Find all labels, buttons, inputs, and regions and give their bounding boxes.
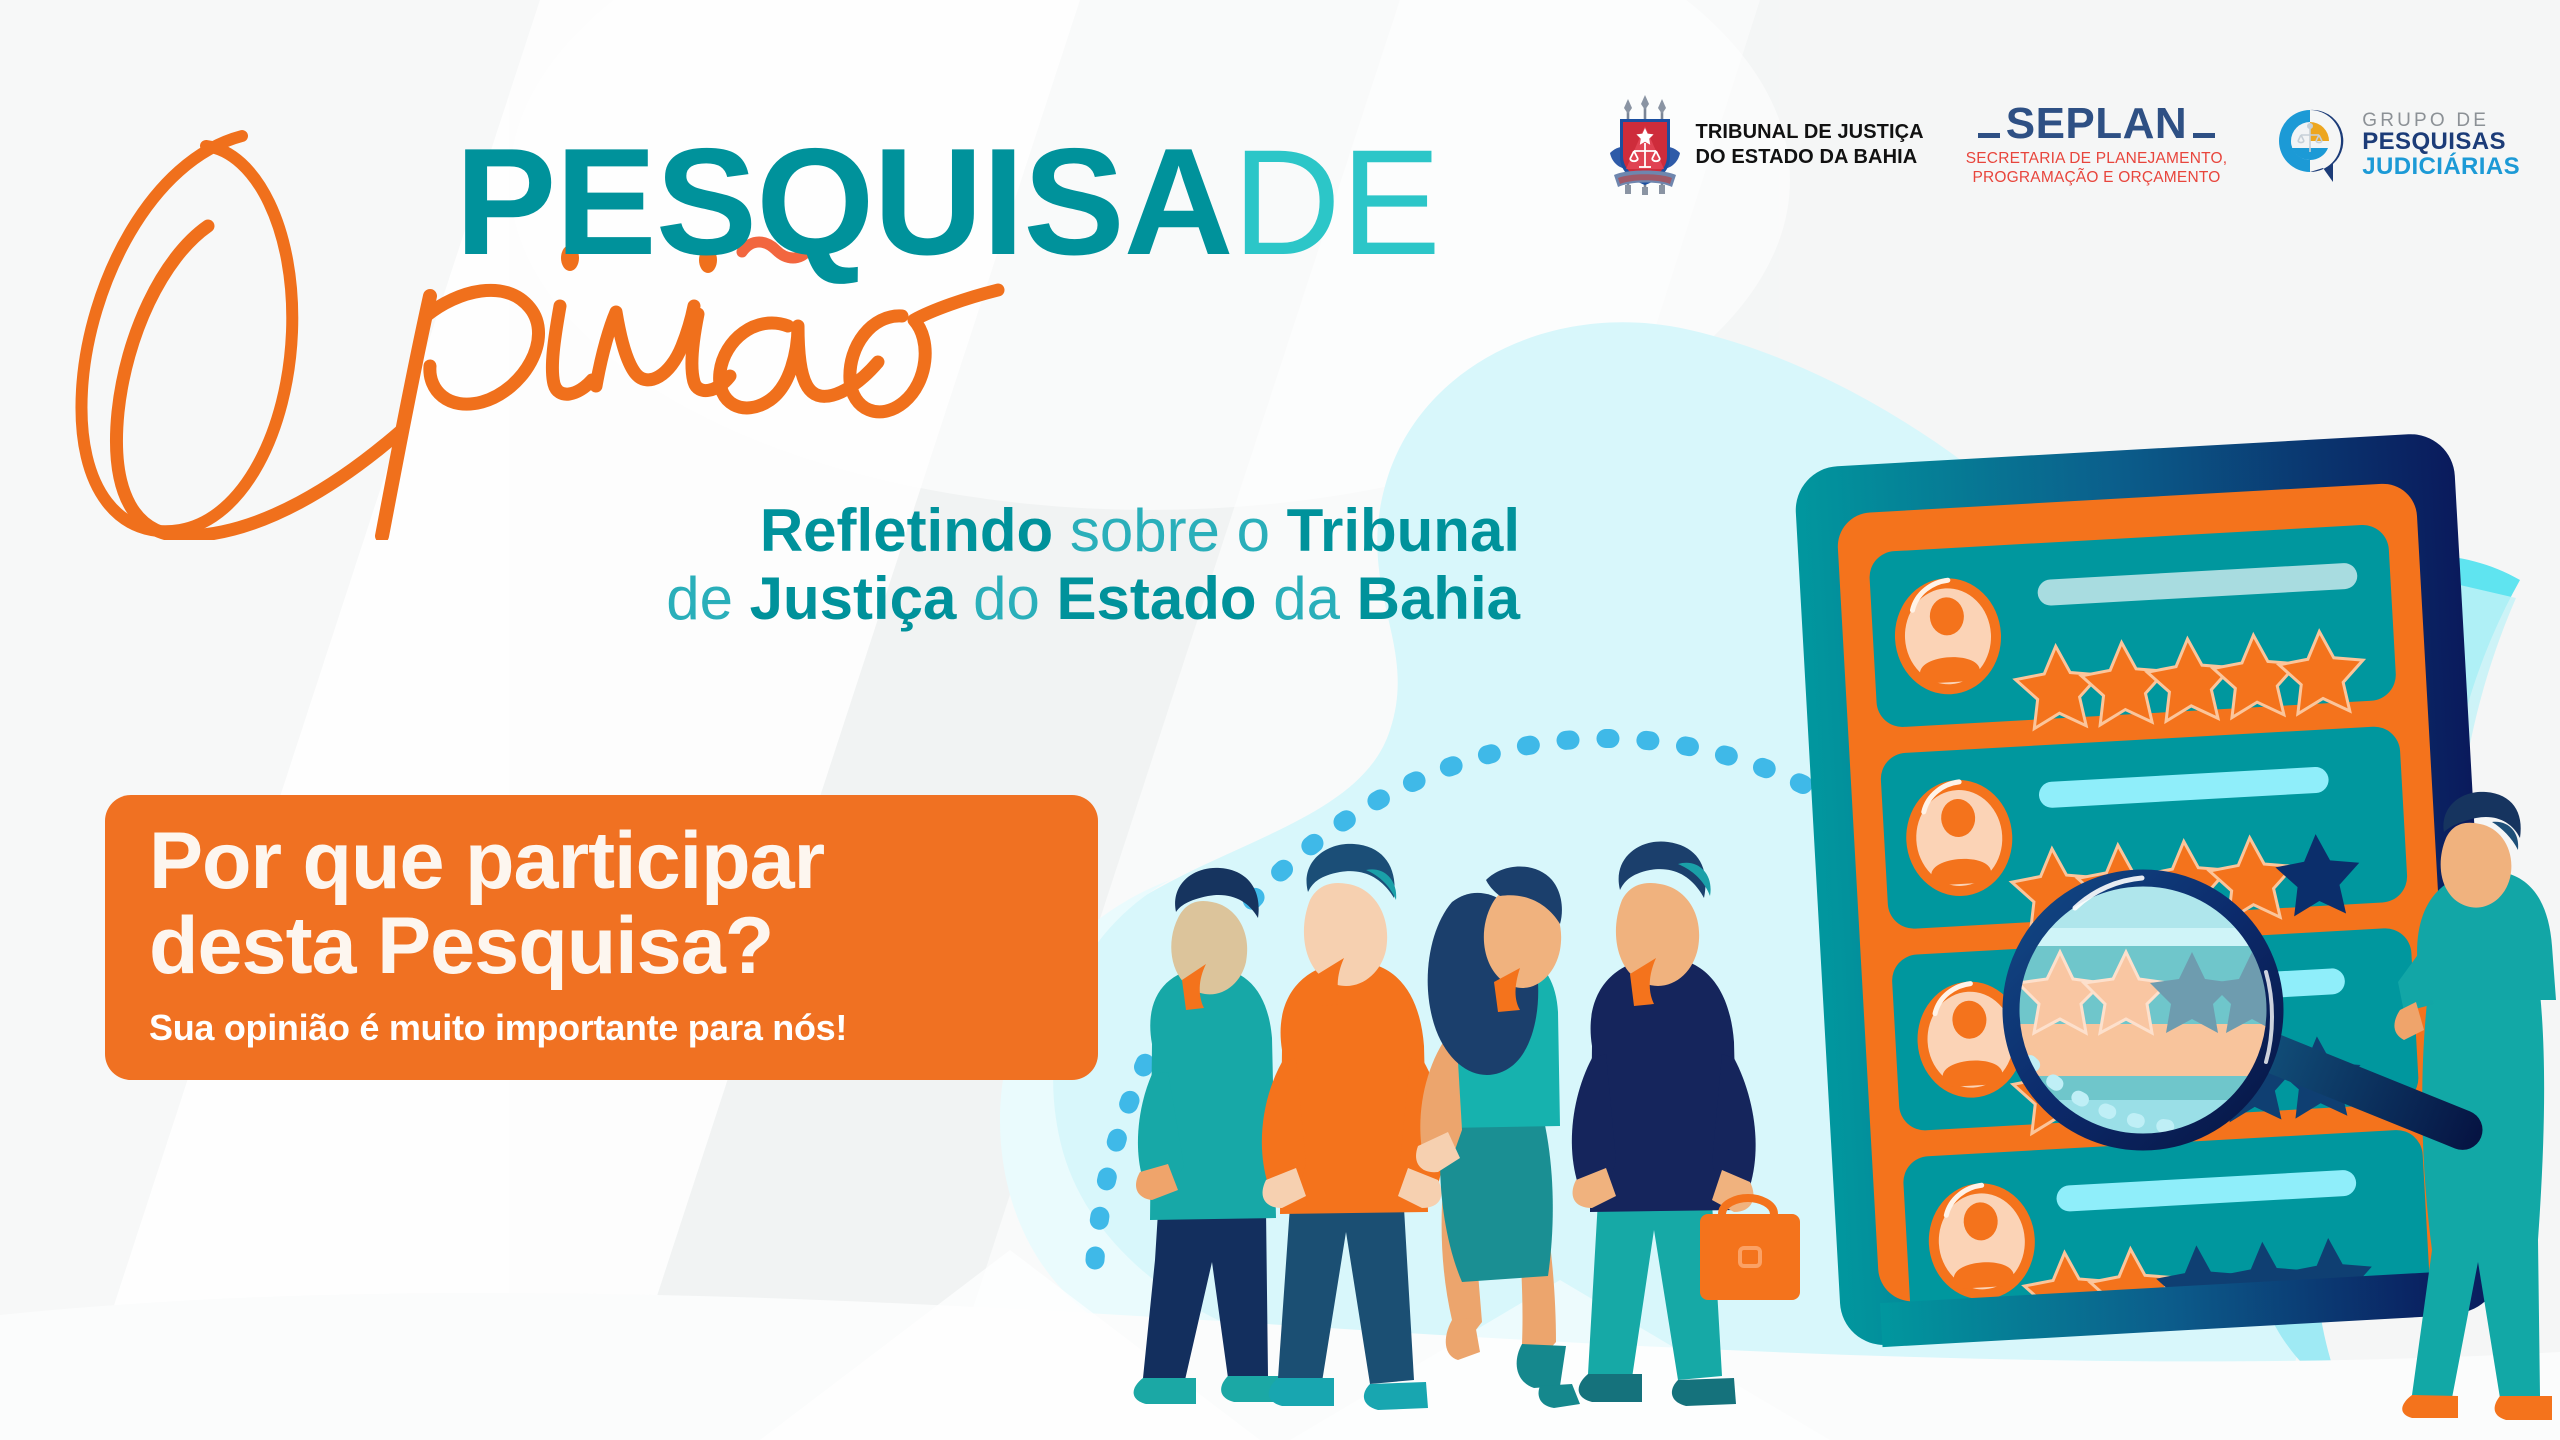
- tj-line-2: DO ESTADO DA BAHIA: [1696, 145, 1924, 170]
- tj-line-1: TRIBUNAL DE JUSTIÇA: [1696, 120, 1924, 145]
- seplan-sub-line-1: SECRETARIA DE PLANEJAMENTO,: [1966, 150, 2228, 169]
- logo-seplan: SEPLAN SECRETARIA DE PLANEJAMENTO, PROGR…: [1966, 102, 2228, 188]
- person-woman-teal-dress: [1416, 867, 1580, 1409]
- bahia-coat-of-arms-icon: [1608, 95, 1682, 195]
- q-speech-bubble-scales-icon: [2271, 106, 2349, 184]
- gpj-line-2: PESQUISAS: [2362, 130, 2520, 154]
- seplan-rule-left: [1978, 133, 2000, 138]
- logo-grupo-pesquisas-judiciarias: GRUPO DE PESQUISAS JUDICIÁRIAS: [2271, 106, 2520, 184]
- person-teal-sweater: [1134, 868, 1282, 1404]
- gpj-wordmark: GRUPO DE PESQUISAS JUDICIÁRIAS: [2362, 111, 2520, 179]
- illustration-layer: [0, 0, 2560, 1440]
- logo-tribunal-justica: TRIBUNAL DE JUSTIÇA DO ESTADO DA BAHIA: [1608, 95, 1924, 195]
- tj-wordmark: TRIBUNAL DE JUSTIÇA DO ESTADO DA BAHIA: [1696, 120, 1924, 170]
- seplan-sub-line-2: PROGRAMAÇÃO E ORÇAMENTO: [1966, 169, 2228, 188]
- orange-briefcase-icon: [1700, 1198, 1800, 1300]
- person-navy-sweater-briefcase: [1572, 841, 1800, 1406]
- person-orange-sweater: [1262, 844, 1444, 1410]
- banner-canvas: PESQUISADE Refletindo sobre o Tribunal d…: [0, 0, 2560, 1440]
- logo-bar: TRIBUNAL DE JUSTIÇA DO ESTADO DA BAHIA S…: [1608, 95, 2520, 195]
- seplan-subtitle: SECRETARIA DE PLANEJAMENTO, PROGRAMAÇÃO …: [1966, 150, 2228, 188]
- seplan-wordmark: SEPLAN: [2006, 102, 2187, 146]
- seplan-rule-right: [2193, 133, 2215, 138]
- gpj-line-3: JUDICIÁRIAS: [2362, 155, 2520, 179]
